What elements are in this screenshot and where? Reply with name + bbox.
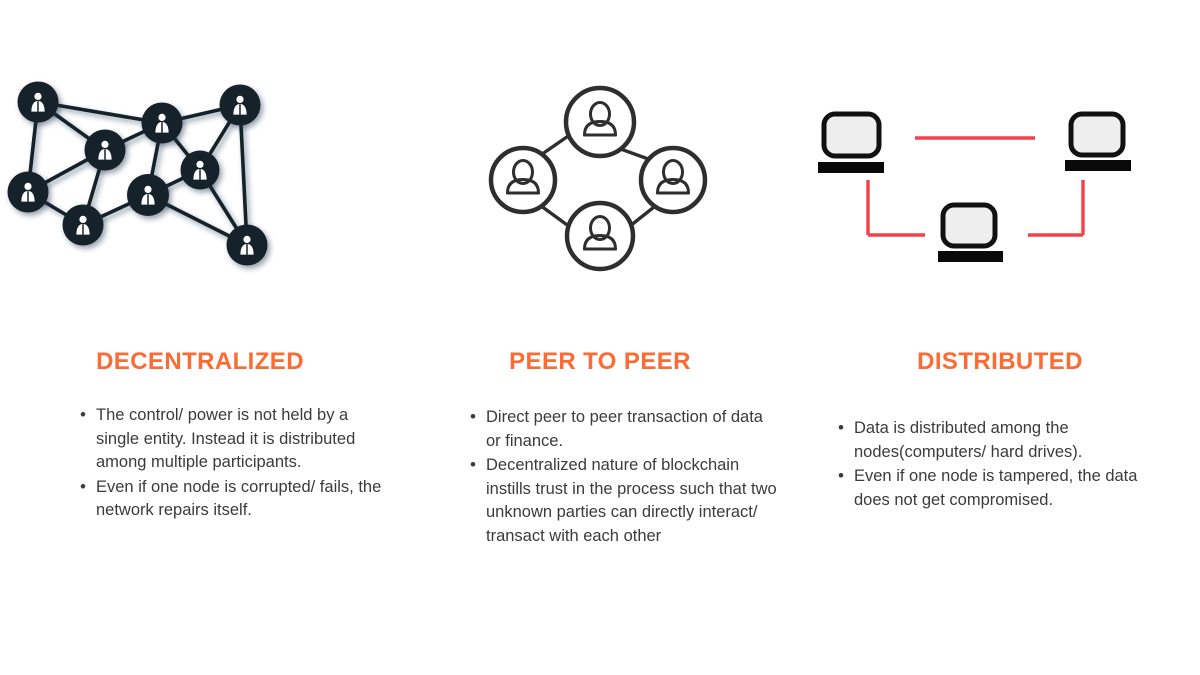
computer-monitor-icon[interactable] xyxy=(818,114,884,173)
column-decentralized: DECENTRALIZED The control/ power is not … xyxy=(0,0,400,675)
peer-node-bottom[interactable] xyxy=(567,203,633,269)
network-node[interactable] xyxy=(85,130,126,171)
network-node[interactable] xyxy=(142,103,183,144)
peer-node-top[interactable] xyxy=(566,88,634,156)
list-item: Even if one node is corrupted/ fails, th… xyxy=(80,476,390,523)
network-node[interactable] xyxy=(127,174,169,216)
peer-to-peer-diagram xyxy=(400,70,800,300)
decentralized-network-diagram xyxy=(0,70,400,300)
peer-node-right[interactable] xyxy=(641,148,705,212)
column-peer-to-peer: PEER TO PEER Direct peer to peer transac… xyxy=(400,0,800,675)
network-node[interactable] xyxy=(18,82,59,123)
page-title-peer-to-peer: PEER TO PEER xyxy=(400,348,800,376)
infographic-slide: DECENTRALIZED The control/ power is not … xyxy=(0,0,1200,675)
page-title-decentralized: DECENTRALIZED xyxy=(0,348,400,376)
bullet-list-decentralized: The control/ power is not held by a sing… xyxy=(80,404,390,524)
computer-monitor-icon[interactable] xyxy=(1065,114,1131,171)
columns-container: DECENTRALIZED The control/ power is not … xyxy=(0,0,1200,675)
bullet-list-distributed: Data is distributed among the nodes(comp… xyxy=(838,417,1138,513)
computer-monitor-icon[interactable] xyxy=(938,205,1003,262)
bullet-list-peer-to-peer: Direct peer to peer transaction of data … xyxy=(470,406,782,549)
distributed-network-diagram xyxy=(800,70,1200,300)
peer-node-left[interactable] xyxy=(491,148,555,212)
network-node[interactable] xyxy=(63,205,104,246)
list-item: Data is distributed among the nodes(comp… xyxy=(838,417,1138,464)
list-item: Decentralized nature of blockchain insti… xyxy=(470,454,782,548)
list-item: Direct peer to peer transaction of data … xyxy=(470,406,782,453)
network-node[interactable] xyxy=(220,85,261,126)
page-title-distributed: DISTRIBUTED xyxy=(800,348,1200,376)
list-item: The control/ power is not held by a sing… xyxy=(80,404,390,475)
network-node[interactable] xyxy=(227,225,268,266)
network-nodes xyxy=(8,82,268,266)
column-distributed: DISTRIBUTED Data is distributed among th… xyxy=(800,0,1200,675)
network-node[interactable] xyxy=(8,172,49,213)
list-item: Even if one node is tampered, the data d… xyxy=(838,465,1138,512)
p2p-nodes xyxy=(491,88,705,269)
network-node[interactable] xyxy=(181,151,220,190)
